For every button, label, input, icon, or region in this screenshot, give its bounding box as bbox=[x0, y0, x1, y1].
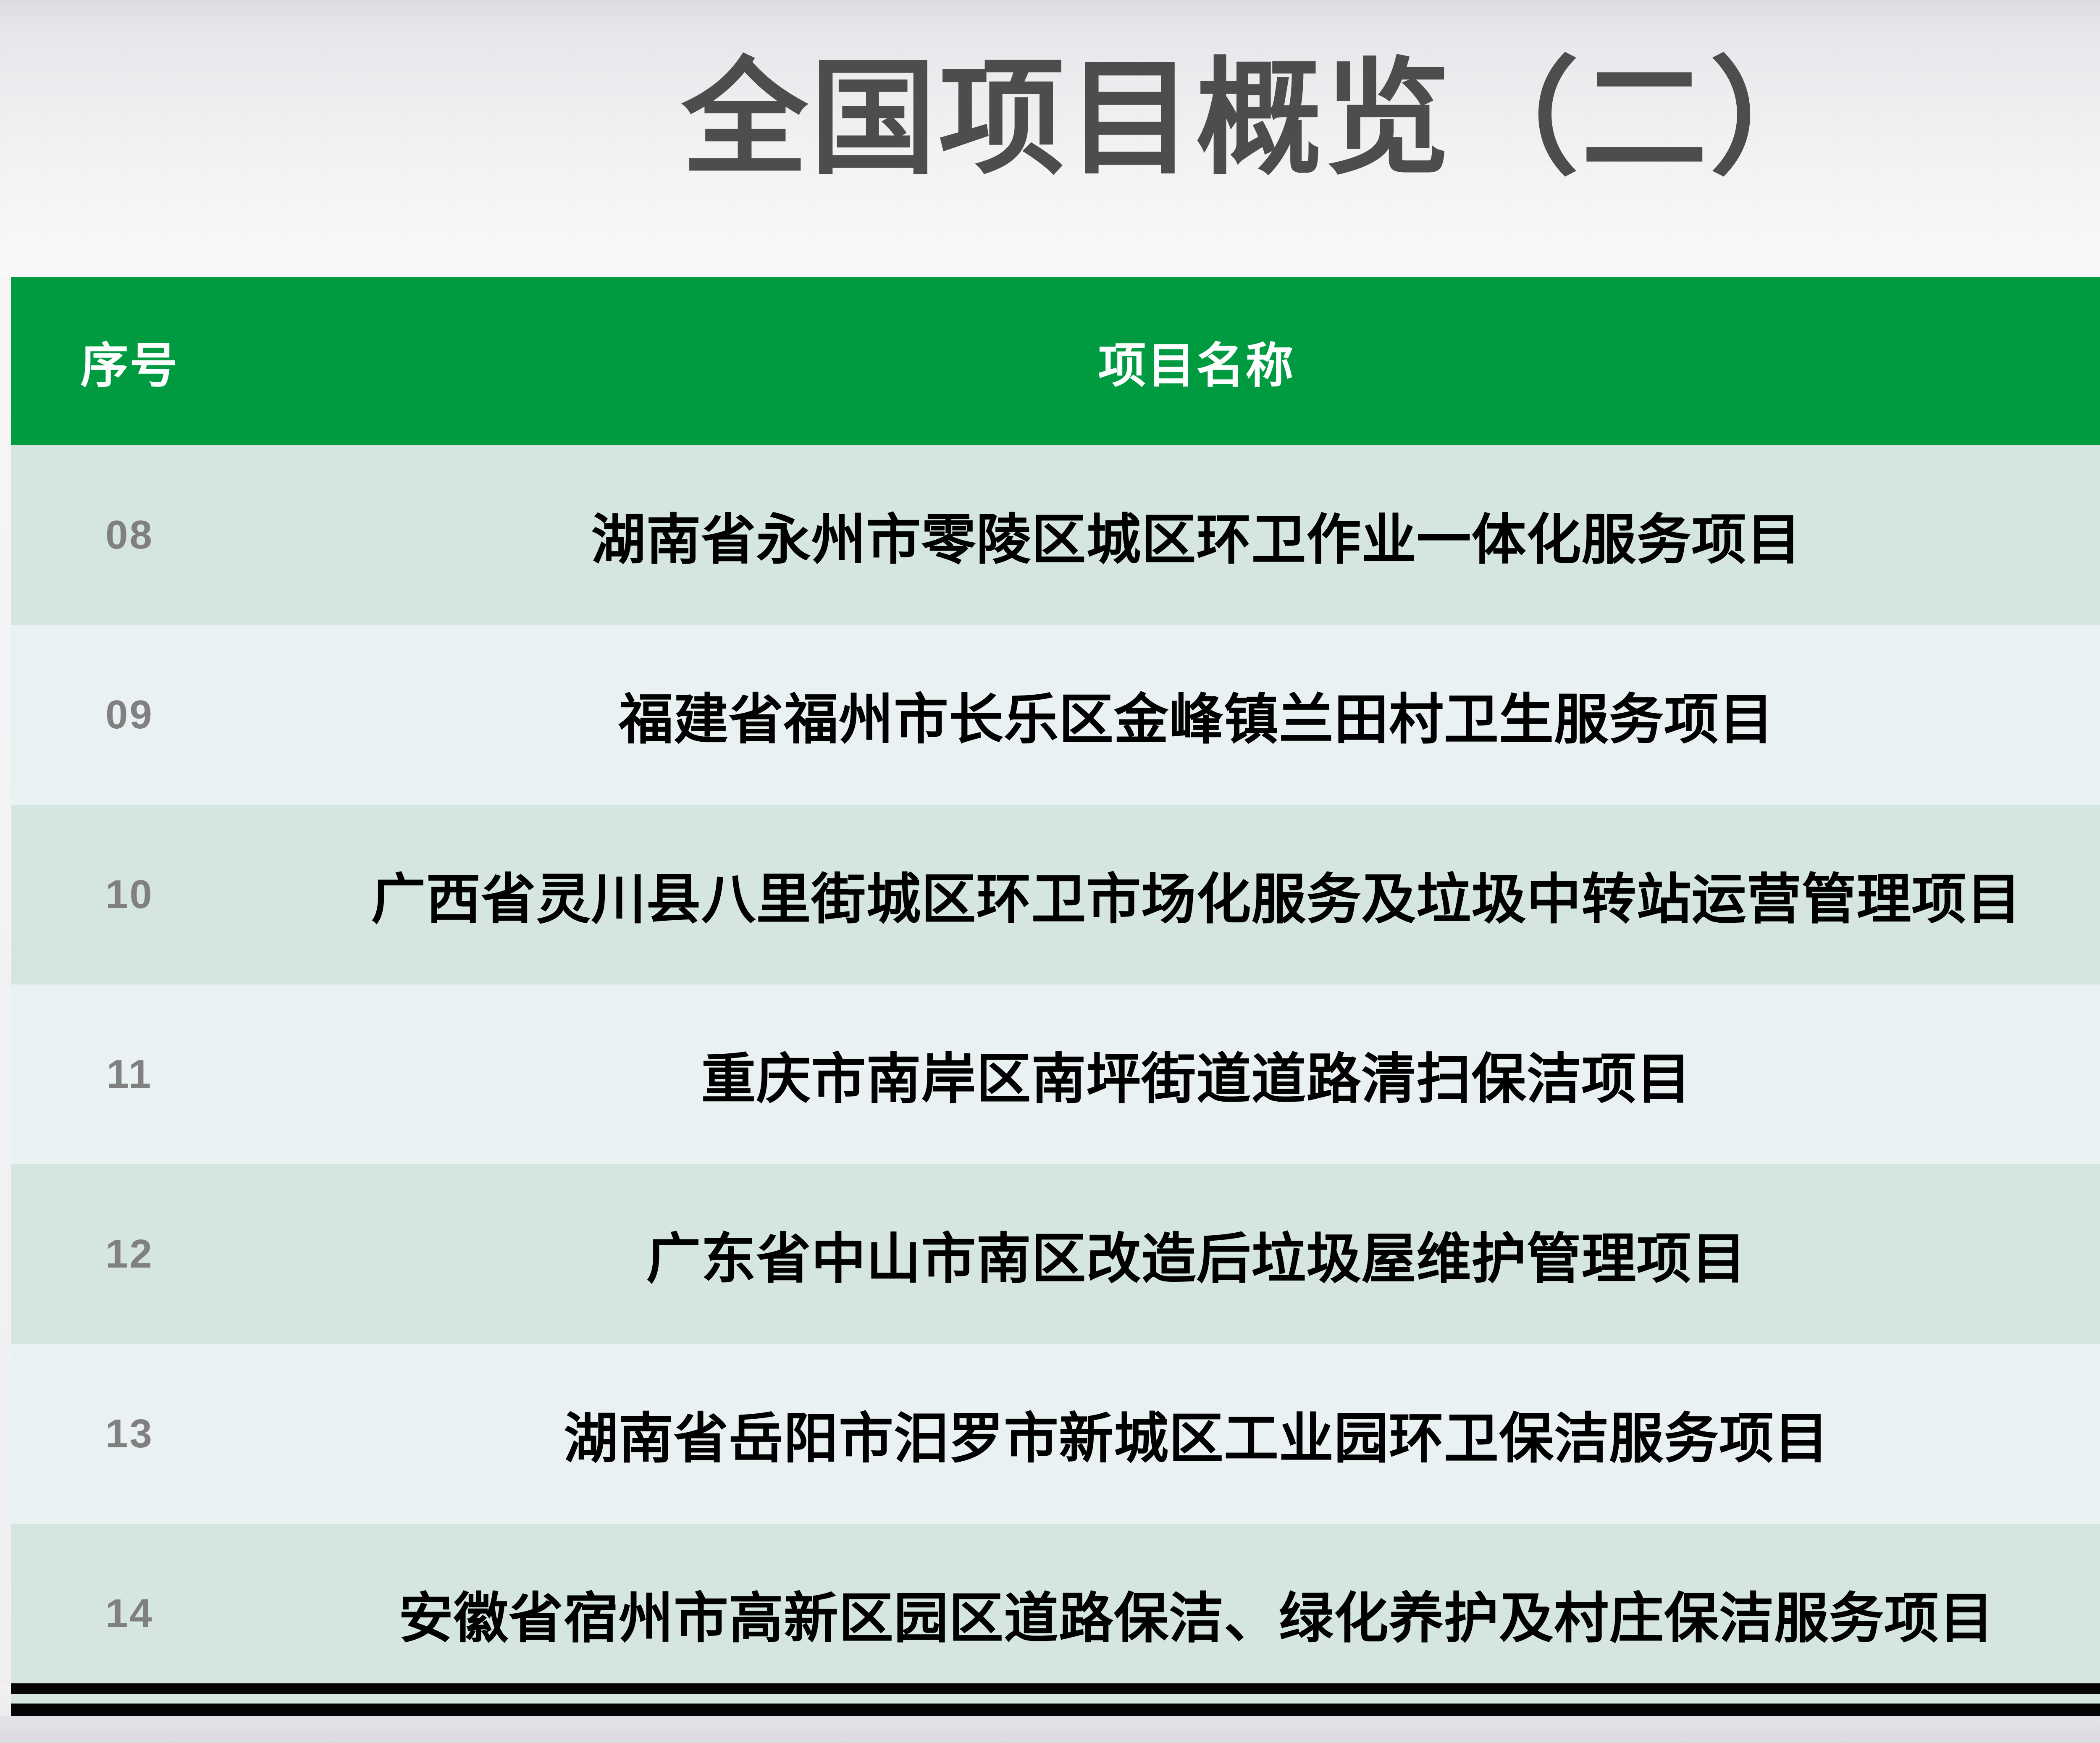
cell-index: 08 bbox=[11, 445, 248, 625]
table-row: 10 广西省灵川县八里街城区环卫市场化服务及垃圾中转站运营管理项目 1010万 bbox=[11, 805, 2100, 984]
page-title: 全国项目概览（二） bbox=[0, 46, 2100, 191]
table-body: 08 湖南省永州市零陵区城区环卫作业一体化服务项目 6329万 09 福建省福州… bbox=[11, 445, 2100, 1704]
table-header: 序号 项目名称 合同金额 bbox=[11, 277, 2100, 445]
project-overview-table: 序号 项目名称 合同金额 08 湖南省永州市零陵区城区环卫作业一体化服务项目 6… bbox=[11, 277, 2100, 1704]
table-left-margin bbox=[0, 277, 11, 1683]
cell-project-name: 湖南省永州市零陵区城区环卫作业一体化服务项目 bbox=[248, 445, 2100, 625]
bottom-edge-strip bbox=[0, 1716, 2100, 1743]
column-header-index: 序号 bbox=[11, 277, 248, 445]
cell-project-name: 广东省中山市南区改造后垃圾屋维护管理项目 bbox=[248, 1164, 2100, 1344]
cell-index: 11 bbox=[11, 984, 248, 1164]
bottom-border-bar-upper bbox=[11, 1683, 2100, 1694]
table-row: 14 安徽省宿州市高新区园区道路保洁、绿化养护及村庄保洁服务项目 2100万 bbox=[11, 1524, 2100, 1704]
table-row: 08 湖南省永州市零陵区城区环卫作业一体化服务项目 6329万 bbox=[11, 445, 2100, 625]
table-row: 11 重庆市南岸区南坪街道道路清扫保洁项目 390万 bbox=[11, 984, 2100, 1164]
table-row: 12 广东省中山市南区改造后垃圾屋维护管理项目 240万 bbox=[11, 1164, 2100, 1344]
cell-index: 10 bbox=[11, 805, 248, 984]
cell-index: 13 bbox=[11, 1344, 248, 1524]
bottom-border-gap bbox=[11, 1694, 2100, 1704]
cell-index: 12 bbox=[11, 1164, 248, 1344]
slide-canvas: 全国项目概览（二） 序号 项目名称 合同金额 08 湖南省永州市零陵区城区环卫作… bbox=[0, 0, 2100, 1743]
cell-project-name: 福建省福州市长乐区金峰镇兰田村卫生服务项目 bbox=[248, 625, 2100, 805]
cell-project-name: 重庆市南岸区南坪街道道路清扫保洁项目 bbox=[248, 984, 2100, 1164]
cell-project-name: 湖南省岳阳市汨罗市新城区工业园环卫保洁服务项目 bbox=[248, 1344, 2100, 1524]
table-row: 13 湖南省岳阳市汨罗市新城区工业园环卫保洁服务项目 300万 bbox=[11, 1344, 2100, 1524]
table-row: 09 福建省福州市长乐区金峰镇兰田村卫生服务项目 1211万 bbox=[11, 625, 2100, 805]
cell-index: 14 bbox=[11, 1524, 248, 1704]
cell-project-name: 广西省灵川县八里街城区环卫市场化服务及垃圾中转站运营管理项目 bbox=[248, 805, 2100, 984]
cell-index: 09 bbox=[11, 625, 248, 805]
cell-project-name: 安徽省宿州市高新区园区道路保洁、绿化养护及村庄保洁服务项目 bbox=[248, 1524, 2100, 1704]
bottom-border-bar-lower bbox=[11, 1704, 2100, 1716]
column-header-name: 项目名称 bbox=[248, 277, 2100, 445]
table-header-row: 序号 项目名称 合同金额 bbox=[11, 277, 2100, 445]
